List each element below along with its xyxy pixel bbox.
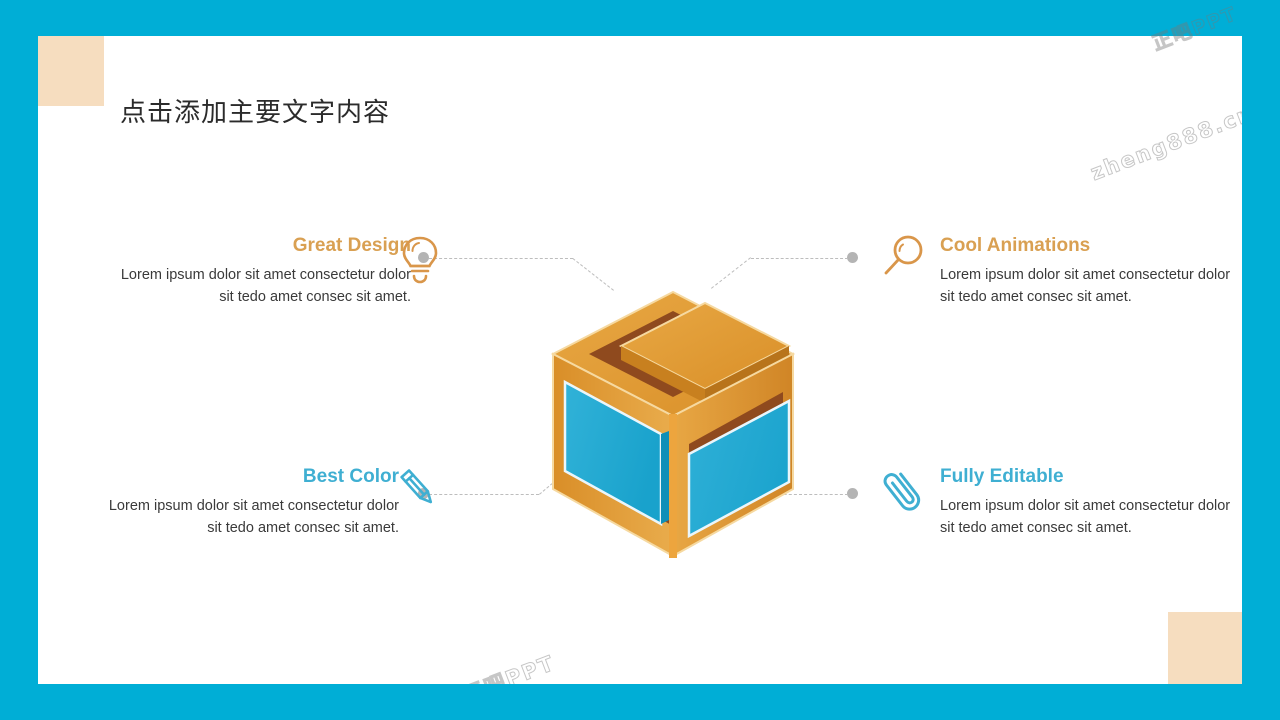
feature-heading-great-design: Great Design bbox=[111, 236, 411, 257]
feature-body-great-design: Lorem ipsum dolor sit amet consectetur d… bbox=[111, 264, 411, 308]
feature-block-best-color: Best Color Lorem ipsum dolor sit amet co… bbox=[99, 467, 399, 539]
watermark: zheng888.cn 正吧PPT bbox=[288, 647, 559, 684]
feature-block-cool-animations: Cool Animations Lorem ipsum dolor sit am… bbox=[940, 236, 1240, 308]
pencil-icon bbox=[391, 466, 439, 518]
feature-body-fully-editable: Lorem ipsum dolor sit amet consectetur d… bbox=[940, 495, 1240, 539]
3d-open-cube-graphic bbox=[493, 274, 853, 604]
slide-canvas: 点击添加主要文字内容 bbox=[38, 36, 1242, 684]
feature-body-cool-animations: Lorem ipsum dolor sit amet consectetur d… bbox=[940, 264, 1240, 308]
feature-heading-cool-animations: Cool Animations bbox=[940, 236, 1240, 257]
feature-block-great-design: Great Design Lorem ipsum dolor sit amet … bbox=[111, 236, 411, 308]
connector-line-top-left bbox=[429, 258, 573, 259]
connector-line-top-right bbox=[751, 258, 848, 259]
lightbulb-icon bbox=[396, 233, 444, 285]
feature-heading-fully-editable: Fully Editable bbox=[940, 467, 1240, 488]
feature-heading-best-color: Best Color bbox=[99, 467, 399, 488]
feature-body-best-color: Lorem ipsum dolor sit amet consectetur d… bbox=[99, 495, 399, 539]
accent-rect-top-left bbox=[38, 36, 104, 106]
paperclip-icon bbox=[879, 464, 927, 516]
page-title: 点击添加主要文字内容 bbox=[120, 92, 390, 129]
accent-rect-bottom-right bbox=[1168, 612, 1242, 684]
watermark: zheng888.cn 正吧PPT bbox=[1086, 59, 1242, 187]
connector-dot-top-right bbox=[847, 252, 858, 263]
feature-block-fully-editable: Fully Editable Lorem ipsum dolor sit ame… bbox=[940, 467, 1240, 539]
magnifier-icon bbox=[879, 231, 927, 283]
